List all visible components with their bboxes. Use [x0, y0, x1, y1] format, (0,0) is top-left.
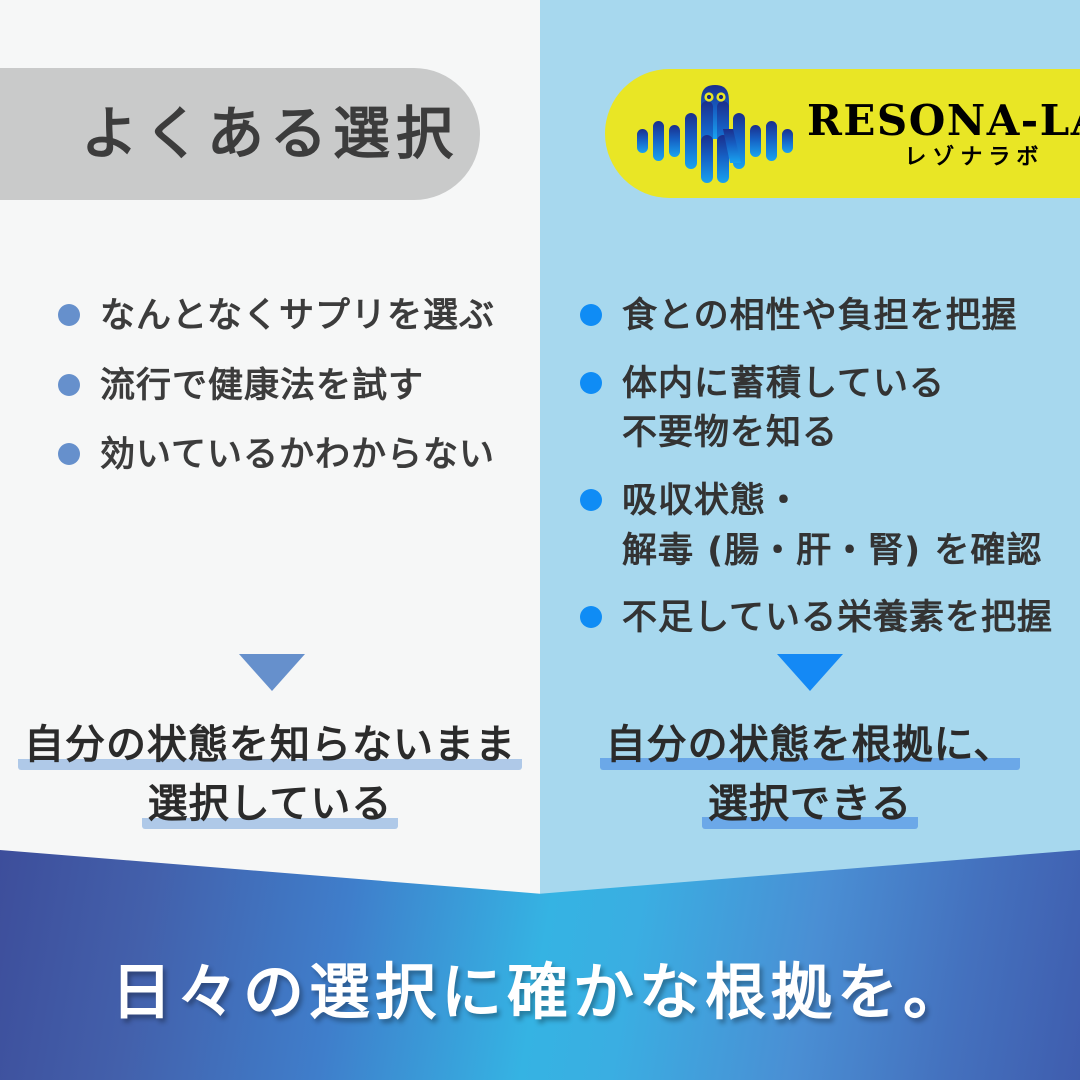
list-item: なんとなくサプリを選ぶ — [58, 292, 528, 342]
highlight-underline: 自分の状態を根拠に、 — [600, 722, 1021, 770]
waveform-octopus-icon — [635, 79, 795, 189]
brand-subtitle: レゾナラボ — [904, 147, 1044, 169]
list-item-label: なんとなくサプリを選ぶ — [100, 292, 495, 342]
list-item: 効いているかわからない — [58, 431, 528, 481]
list-item-label: 不足している栄養素を把握 — [622, 594, 1053, 644]
list-item-label: 効いているかわからない — [100, 431, 495, 481]
left-heading-pill: よくある選択 — [0, 68, 480, 200]
right-conclusion-line-2: 選択できる — [540, 775, 1080, 834]
list-item-label: 流行で健康法を試す — [100, 362, 424, 412]
right-down-arrow-icon — [777, 654, 843, 691]
list-item: 流行で健康法を試す — [58, 362, 528, 412]
right-conclusion-line-1: 自分の状態を根拠に、 — [540, 716, 1080, 775]
bullet-dot-icon — [580, 304, 602, 326]
bullet-dot-icon — [580, 372, 602, 394]
brand-lockup: RESONA-LAB レゾナラボ — [807, 100, 1080, 169]
list-item: 不足している栄養素を把握 — [580, 594, 1060, 644]
left-conclusion-line-1: 自分の状態を知らないまま — [0, 716, 540, 775]
brand-pill: RESONA-LAB レゾナラボ — [605, 69, 1080, 198]
right-conclusion: 自分の状態を根拠に、 選択できる — [540, 716, 1080, 834]
highlight-underline: 選択している — [142, 781, 399, 829]
left-conclusion: 自分の状態を知らないまま 選択している — [0, 716, 540, 834]
bullet-dot-icon — [58, 374, 80, 396]
brand-wordmark: RESONA-LAB — [807, 100, 1080, 142]
bullet-dot-icon — [58, 304, 80, 326]
list-item: 体内に蓄積している 不要物を知る — [580, 360, 1060, 459]
bullet-dot-icon — [580, 489, 602, 511]
left-conclusion-line-2: 選択している — [0, 775, 540, 834]
highlight-underline: 選択できる — [702, 781, 918, 829]
left-heading-label: よくある選択 — [0, 106, 480, 163]
bullet-dot-icon — [580, 606, 602, 628]
list-item-label: 食との相性や負担を把握 — [622, 292, 1018, 342]
left-bullet-list: なんとなくサプリを選ぶ 流行で健康法を試す 効いているかわからない — [58, 292, 528, 501]
banner-tagline: 日々の選択に確かな根拠を。 — [111, 962, 969, 1023]
list-item-label: 体内に蓄積している 不要物を知る — [622, 360, 945, 459]
poster-canvas: よくある選択 — [0, 0, 1080, 1080]
list-item: 吸収状態・ 解毒 (腸・肝・腎) を確認 — [580, 477, 1060, 576]
bullet-dot-icon — [58, 443, 80, 465]
list-item: 食との相性や負担を把握 — [580, 292, 1060, 342]
right-bullet-list: 食との相性や負担を把握 体内に蓄積している 不要物を知る 吸収状態・ 解毒 (腸… — [580, 292, 1060, 662]
highlight-underline: 自分の状態を知らないまま — [18, 722, 522, 770]
list-item-label: 吸収状態・ 解毒 (腸・肝・腎) を確認 — [622, 477, 1042, 576]
left-down-arrow-icon — [239, 654, 305, 691]
